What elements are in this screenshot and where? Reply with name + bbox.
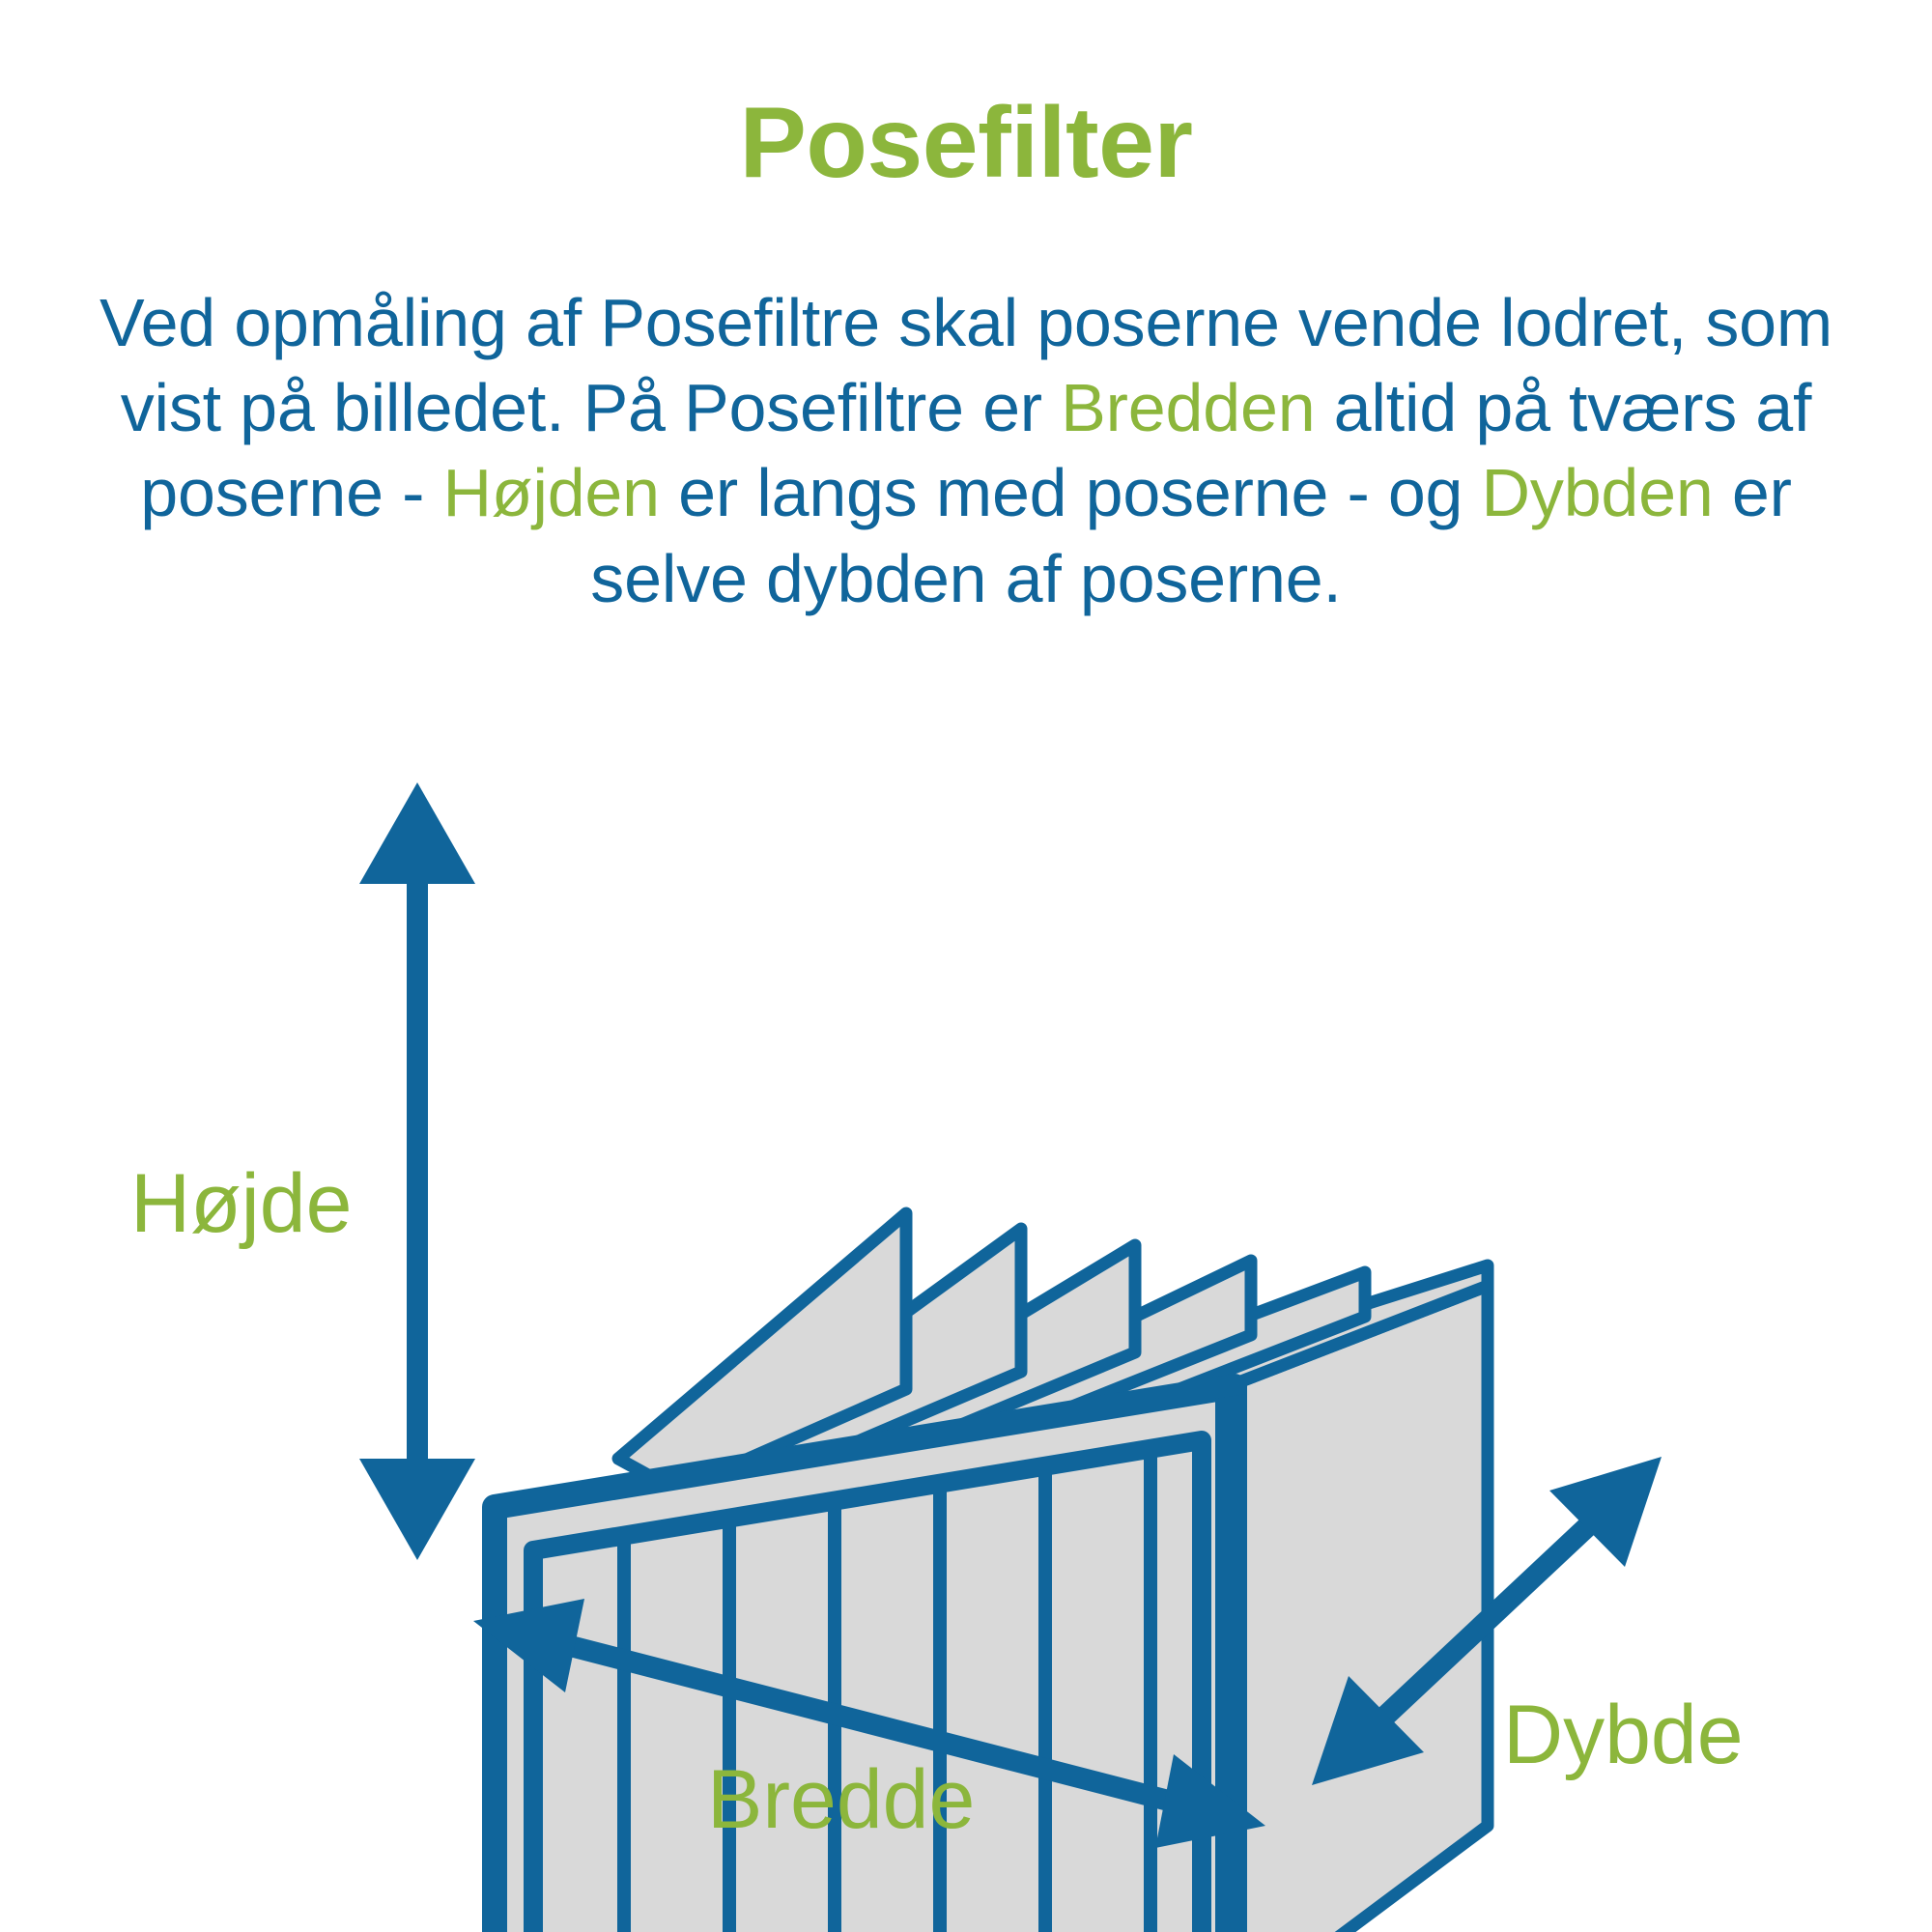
intro-paragraph: Ved opmåling af Posefiltre skal poserne … (68, 280, 1864, 621)
height-arrow-head-up (359, 782, 475, 884)
depth-label: Dybde (1503, 1689, 1744, 1781)
intro-keyword-bredden: Bredden (1061, 370, 1315, 445)
page-title: Posefilter (0, 89, 1932, 197)
intro-keyword-hojden: Højden (442, 455, 659, 530)
width-label: Bredde (707, 1753, 975, 1846)
height-arrow (359, 782, 475, 1560)
side-panel-face (1229, 1286, 1488, 1932)
height-arrow-head-down (359, 1459, 475, 1560)
bag-filter-diagram: Højde Bredde Dybde (0, 676, 1932, 1932)
intro-keyword-dybden: Dybden (1482, 455, 1714, 530)
height-label: Højde (130, 1157, 352, 1250)
filter-body (495, 1213, 1488, 1932)
poster-page: Posefilter Ved opmåling af Posefiltre sk… (0, 0, 1932, 1932)
frame-corner-post (1215, 1394, 1246, 1932)
intro-segment-3: er langs med poserne - og (660, 455, 1482, 530)
diagram-container: Højde Bredde Dybde (0, 676, 1932, 1932)
